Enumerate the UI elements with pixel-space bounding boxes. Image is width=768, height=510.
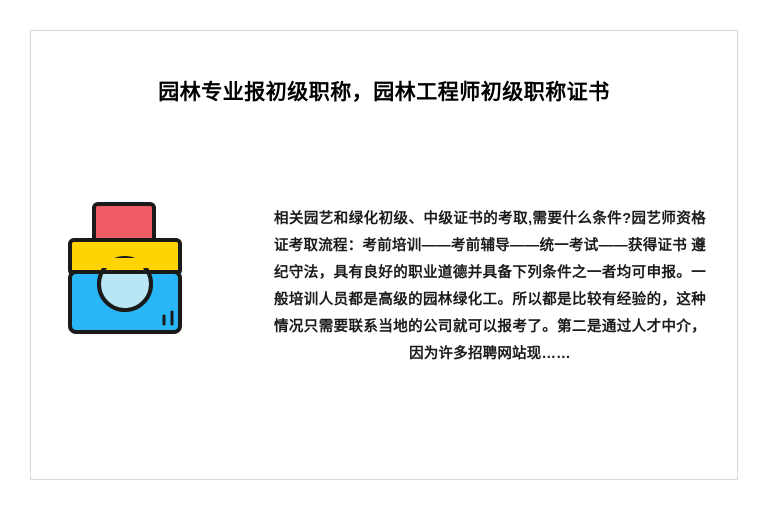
page-card: 园林专业报初级职称，园林工程师初级职称证书 相关园艺和绿化初级 [0, 0, 768, 510]
book-stack-illustration [60, 200, 240, 360]
content-area: 相关园艺和绿化初级、中级证书的考取,需要什么条件?园艺师资格证考取流程：考前培训… [60, 186, 708, 450]
page-title: 园林专业报初级职称，园林工程师初级职称证书 [0, 76, 768, 106]
article-body: 相关园艺和绿化初级、中级证书的考取,需要什么条件?园艺师资格证考取流程：考前培训… [274, 206, 706, 368]
